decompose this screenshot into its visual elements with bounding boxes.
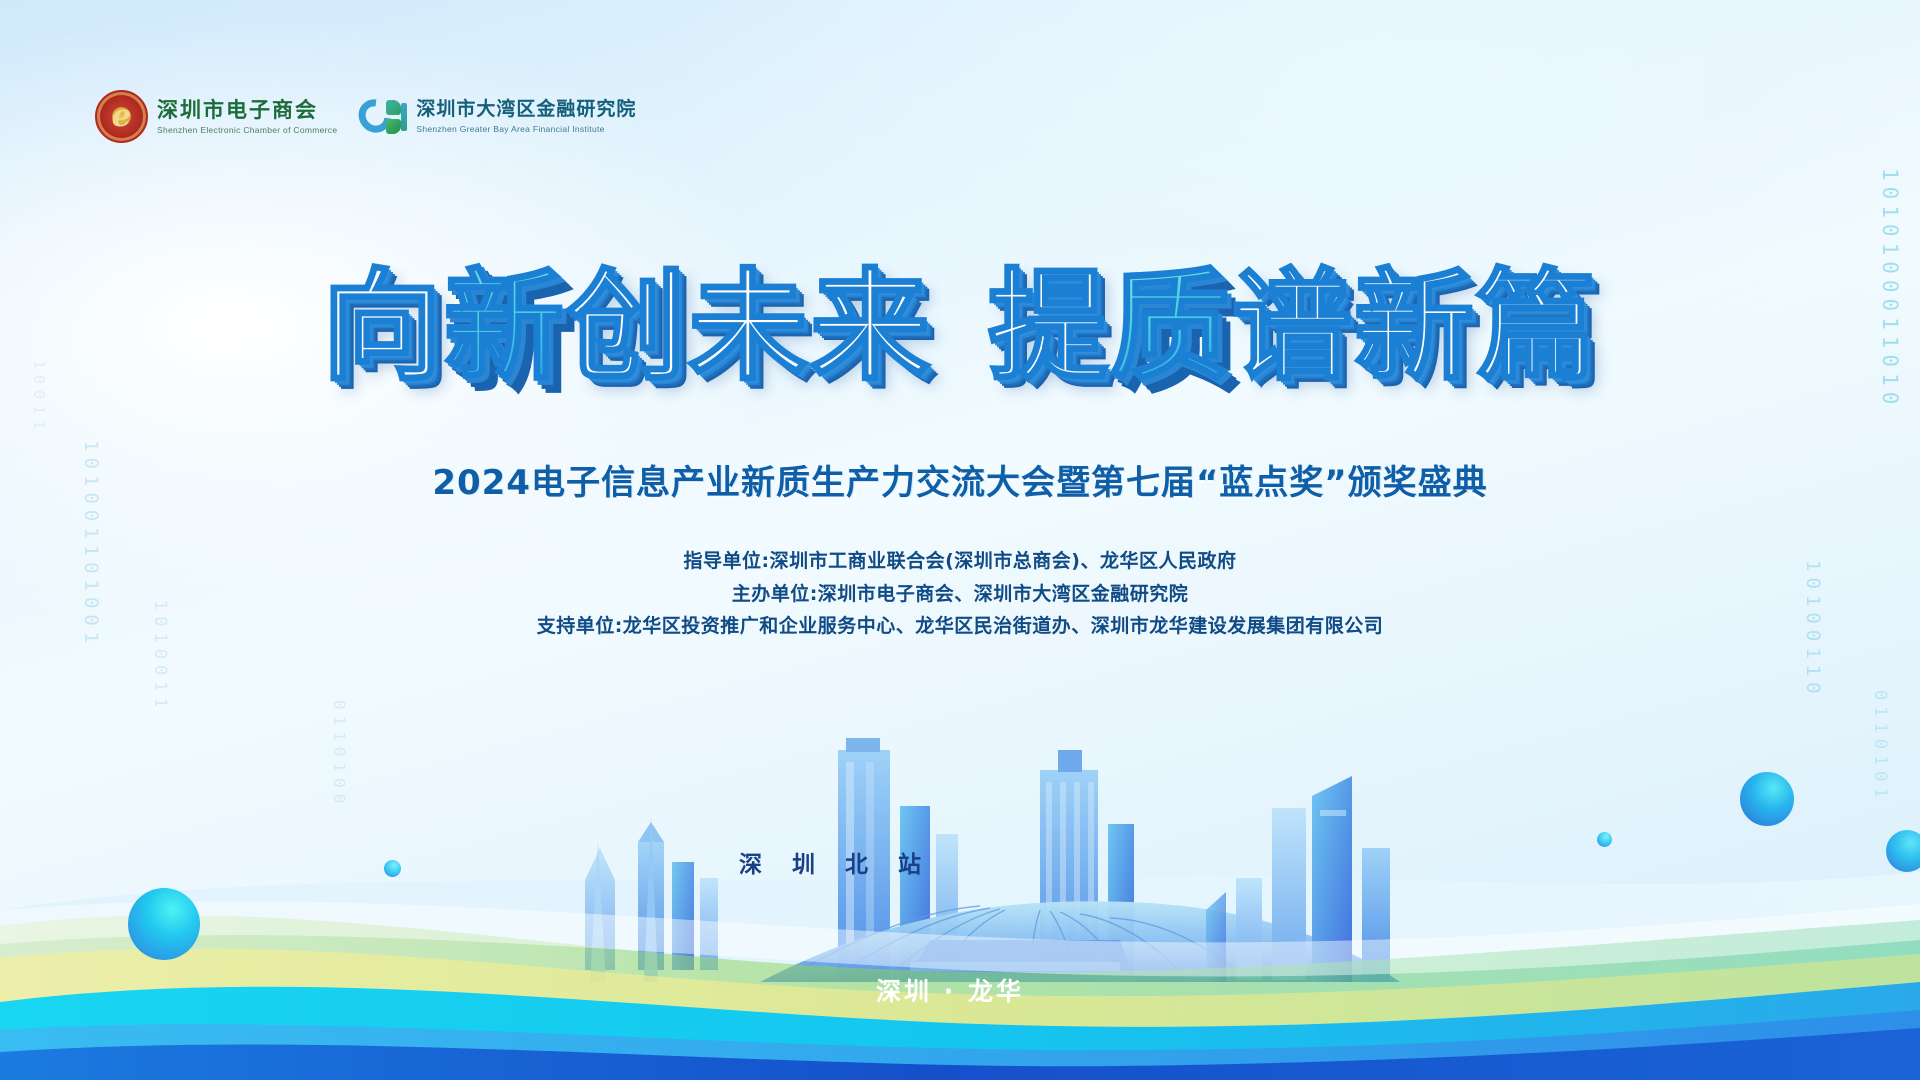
headline-char-9: 新	[1354, 268, 1476, 388]
organizer-line-guidance: 指导单位:深圳市工商业联合会(深圳市总商会)、龙华区人民政府	[0, 545, 1920, 578]
poster-subtitle: 2024电子信息产业新质生产力交流大会暨第七届“蓝点奖”颁奖盛典	[0, 455, 1920, 504]
decorative-dot-right	[1597, 832, 1612, 847]
headline-char-2: 创	[566, 268, 688, 388]
headline-char-6: 提	[988, 268, 1110, 388]
decorative-sphere-large-left	[128, 888, 200, 960]
sponsor-logo-row: 深圳市电子商会 Shenzhen Electronic Chamber of C…	[95, 90, 636, 143]
headline-char-1: 新	[444, 268, 566, 388]
logo-shenzhen-electronic-chamber: 深圳市电子商会 Shenzhen Electronic Chamber of C…	[95, 90, 337, 143]
headline-char-4: 来	[810, 268, 932, 388]
headline-char-7: 质	[1110, 268, 1232, 388]
decorative-sphere-right-small	[1886, 830, 1920, 872]
city-scenery-illustration	[0, 610, 1920, 1080]
seal-emblem-icon	[95, 90, 148, 143]
headline-char-10: 篇	[1476, 268, 1598, 388]
logo-gba-financial-institute: 深圳市大湾区金融研究院 Shenzhen Greater Bay Area Fi…	[359, 99, 636, 135]
logo-name-cn: 深圳市大湾区金融研究院	[416, 99, 636, 121]
poster-headline: 向新创未来提质谱新篇	[0, 268, 1920, 388]
poster-canvas: 1010100011010 10100110 0110101 101001101…	[0, 0, 1920, 1080]
logo-name-en: Shenzhen Greater Bay Area Financial Inst…	[416, 124, 636, 134]
gbi-monogram-icon	[359, 99, 407, 135]
headline-char-0: 向	[322, 268, 444, 388]
organizer-line-host: 主办单位:深圳市电子商会、深圳市大湾区金融研究院	[0, 578, 1920, 611]
decorative-dot-left	[384, 860, 401, 877]
headline-char-3: 未	[688, 268, 810, 388]
logo-name-en: Shenzhen Electronic Chamber of Commerce	[157, 125, 337, 135]
headline-char-8: 谱	[1232, 268, 1354, 388]
logo-name-cn: 深圳市电子商会	[157, 98, 337, 122]
decorative-sphere-right	[1740, 772, 1794, 826]
